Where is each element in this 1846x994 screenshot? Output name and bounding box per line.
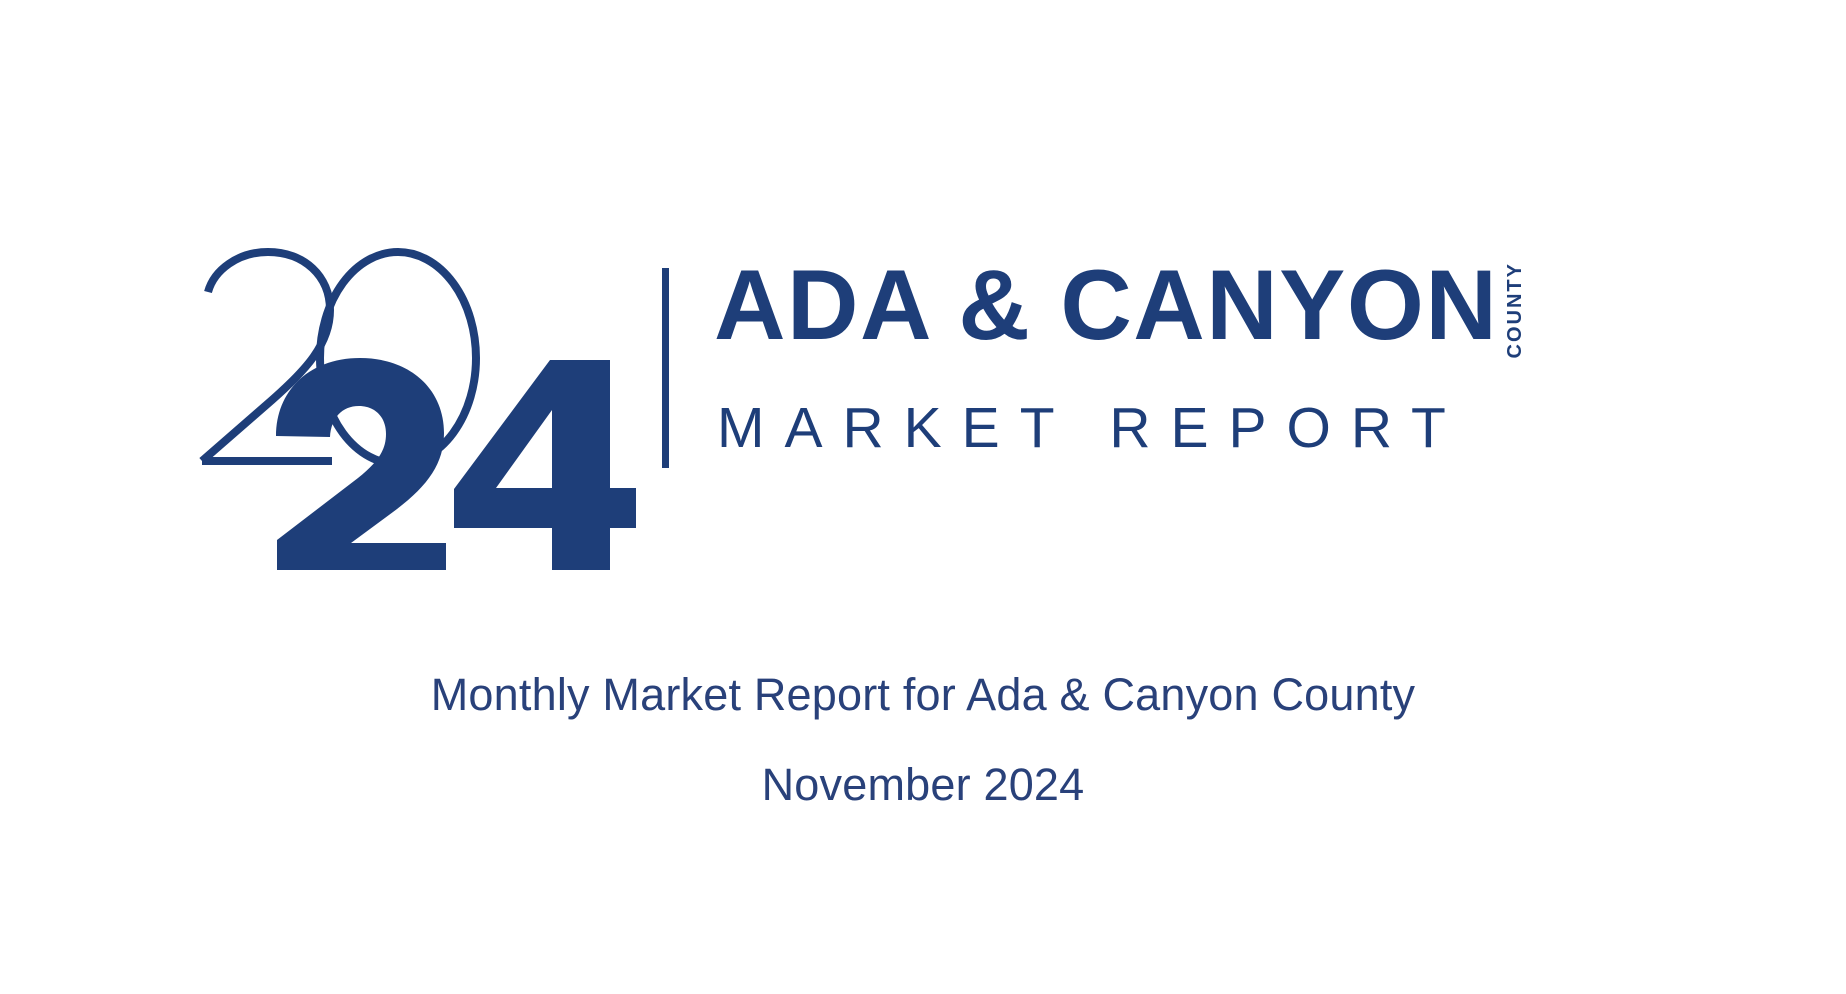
wordmark-main-row: ADA & CANYON COUNTY: [714, 256, 1525, 358]
caption-block: Monthly Market Report for Ada & Canyon C…: [0, 672, 1846, 807]
brand-logo: ADA & CANYON COUNTY MARKET REPORT: [0, 240, 1846, 580]
report-description: Monthly Market Report for Ada & Canyon C…: [0, 672, 1846, 717]
wordmark: ADA & CANYON COUNTY MARKET REPORT: [714, 240, 1674, 510]
report-date: November 2024: [0, 762, 1846, 807]
vertical-divider: [662, 268, 669, 468]
solid-numeral-4: [454, 360, 636, 570]
wordmark-subtitle: MARKET REPORT: [717, 400, 1466, 457]
county-tag: COUNTY: [1505, 262, 1525, 358]
brand-name: ADA & CANYON: [714, 256, 1498, 353]
report-cover-slide: ADA & CANYON COUNTY MARKET REPORT Monthl…: [0, 0, 1846, 994]
year-2024-mark: [180, 240, 660, 580]
